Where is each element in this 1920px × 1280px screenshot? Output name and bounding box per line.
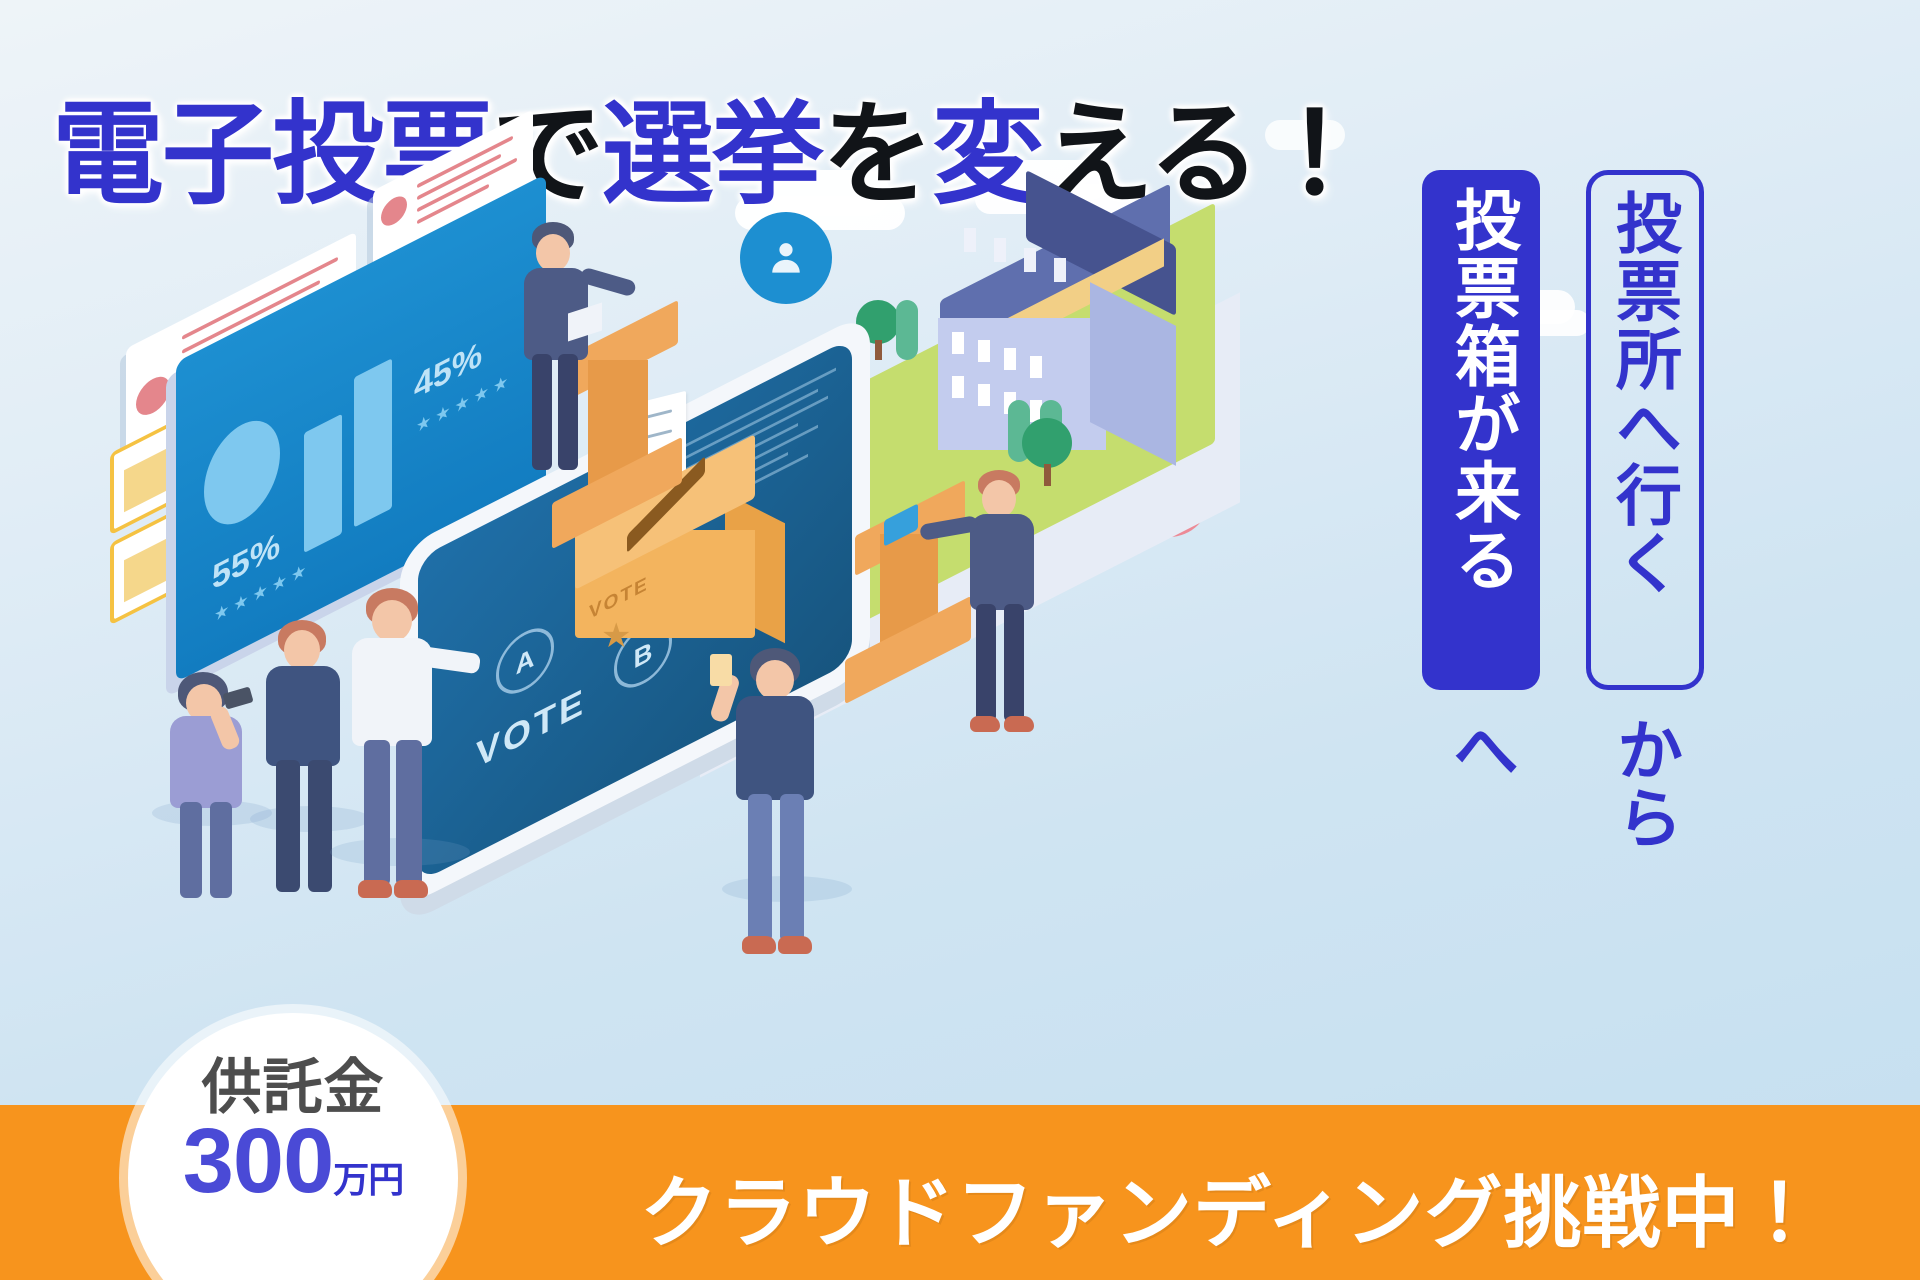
callout-box-ballot-comes: 投票箱が来る xyxy=(1422,170,1540,690)
leg xyxy=(780,794,804,942)
head xyxy=(372,600,412,642)
head xyxy=(536,234,570,272)
torso xyxy=(266,666,340,766)
leg xyxy=(558,354,578,470)
person-badge-pink xyxy=(381,191,407,230)
deposit-badge: 供託金 300万円 xyxy=(128,1013,458,1280)
person-badge-blue xyxy=(740,212,832,304)
shoe xyxy=(1004,716,1034,732)
head xyxy=(982,480,1016,518)
leg xyxy=(276,760,300,892)
leg xyxy=(748,794,772,942)
crowdfunding-text: クラウドファンディング挑戦中！ xyxy=(640,1151,1820,1263)
parliament-building xyxy=(930,200,1210,430)
callout-box-go-to-polling-place: 投票所へ行く xyxy=(1586,170,1704,690)
vertical-message-group: 投票箱が来る 投票所へ行く へ から xyxy=(1400,170,1920,1050)
deposit-amount: 300万円 xyxy=(128,1109,458,1214)
shoe xyxy=(742,936,776,954)
poster-root: 電子投票で選挙を変える！ 45% ★★★★★ 55% ★★★★★ xyxy=(0,0,1920,1280)
title-segment: を xyxy=(822,90,932,220)
leg xyxy=(180,802,202,898)
leg xyxy=(308,760,332,892)
callout-tail-he: へ xyxy=(1432,716,1528,784)
ballot-star-icon: ★ xyxy=(601,616,631,656)
leg xyxy=(364,740,390,886)
person-badge-pink xyxy=(136,370,170,421)
shoe xyxy=(778,936,812,954)
shoe xyxy=(394,880,428,898)
window-card-body xyxy=(124,530,184,603)
torso xyxy=(970,514,1034,610)
deposit-amount-unit: 万円 xyxy=(333,1160,403,1201)
shoe xyxy=(970,716,1000,732)
torso xyxy=(736,696,814,800)
person-avatar-icon xyxy=(204,405,280,540)
leg xyxy=(1004,604,1024,722)
chart-bar xyxy=(354,358,392,527)
person-icon xyxy=(764,236,808,280)
head xyxy=(756,660,794,700)
leg xyxy=(976,604,996,722)
deposit-amount-number: 300 xyxy=(183,1110,334,1212)
leg xyxy=(532,354,552,470)
page-title: 電子投票で選挙を変える！ xyxy=(52,97,1369,215)
head xyxy=(284,630,320,670)
title-segment: 選挙 xyxy=(602,90,822,220)
window-card-body xyxy=(124,440,184,513)
leg xyxy=(396,740,422,886)
shoe xyxy=(358,880,392,898)
option-a-circle[interactable]: A xyxy=(496,617,554,705)
callout-tail-kara: から xyxy=(1596,716,1692,852)
vote-label: VOTE xyxy=(476,679,586,777)
chart-bar xyxy=(304,414,342,553)
leg xyxy=(210,802,232,898)
phone-held-icon xyxy=(710,654,732,686)
